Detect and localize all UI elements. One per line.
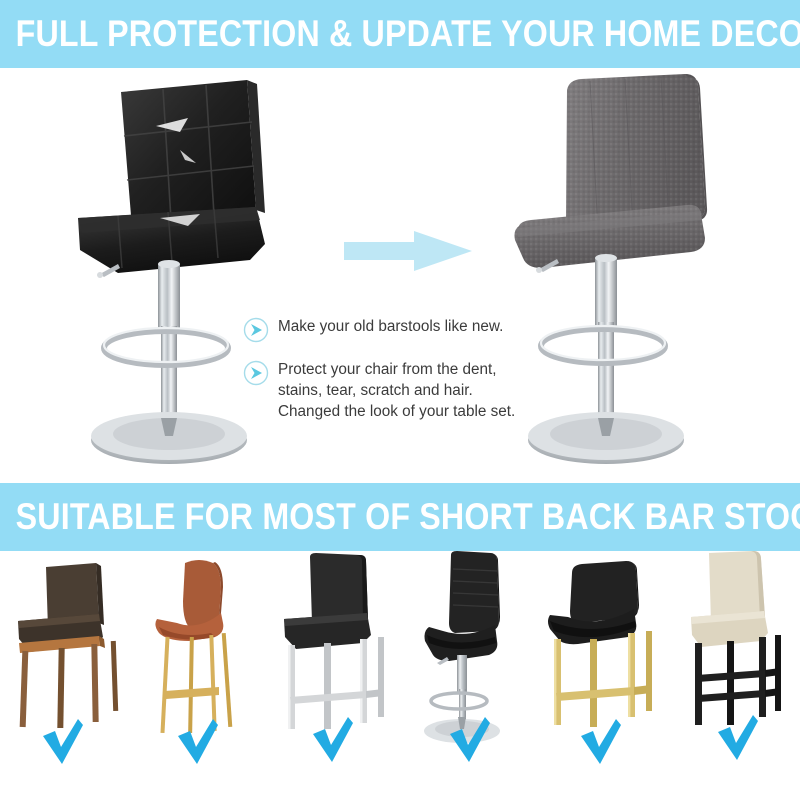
chair-black-chrome-square-legs	[266, 551, 399, 800]
hero-section: Make your old barstools like new. Protec…	[0, 68, 800, 483]
product-infographic: FULL PROTECTION & UPDATE YOUR HOME DECOR	[0, 0, 800, 800]
chair-black-gold-legs	[532, 551, 665, 800]
chair-tan-leather-gold-legs	[133, 551, 266, 800]
arrow-right-icon	[344, 228, 472, 274]
banner-middle-text: SUITABLE FOR MOST OF SHORT BACK BAR STOO…	[0, 496, 800, 538]
chair-dark-brown-wood-legs	[0, 551, 133, 800]
chair-cream-black-legs	[665, 551, 798, 800]
list-item: Protect your chair from the dent, stains…	[243, 359, 573, 422]
benefit-text-1: Make your old barstools like new.	[278, 316, 503, 337]
list-item: Make your old barstools like new.	[243, 316, 573, 343]
arrow-circle-icon	[243, 317, 269, 343]
check-icon	[715, 715, 759, 761]
benefit-text-2: Protect your chair from the dent, stains…	[278, 359, 515, 422]
benefit-list: Make your old barstools like new. Protec…	[243, 316, 573, 430]
chair-black-swivel-gaslift	[399, 551, 532, 800]
check-icon	[40, 719, 84, 765]
check-icon	[310, 717, 354, 763]
check-icon	[447, 717, 491, 763]
banner-middle: SUITABLE FOR MOST OF SHORT BACK BAR STOO…	[0, 483, 800, 551]
banner-top-text: FULL PROTECTION & UPDATE YOUR HOME DECOR	[0, 13, 800, 55]
compatible-chairs-row	[0, 551, 800, 800]
transform-arrow	[344, 228, 472, 274]
arrow-circle-icon	[243, 360, 269, 386]
check-icon	[175, 719, 219, 765]
banner-top: FULL PROTECTION & UPDATE YOUR HOME DECOR	[0, 0, 800, 68]
check-icon	[578, 719, 622, 765]
